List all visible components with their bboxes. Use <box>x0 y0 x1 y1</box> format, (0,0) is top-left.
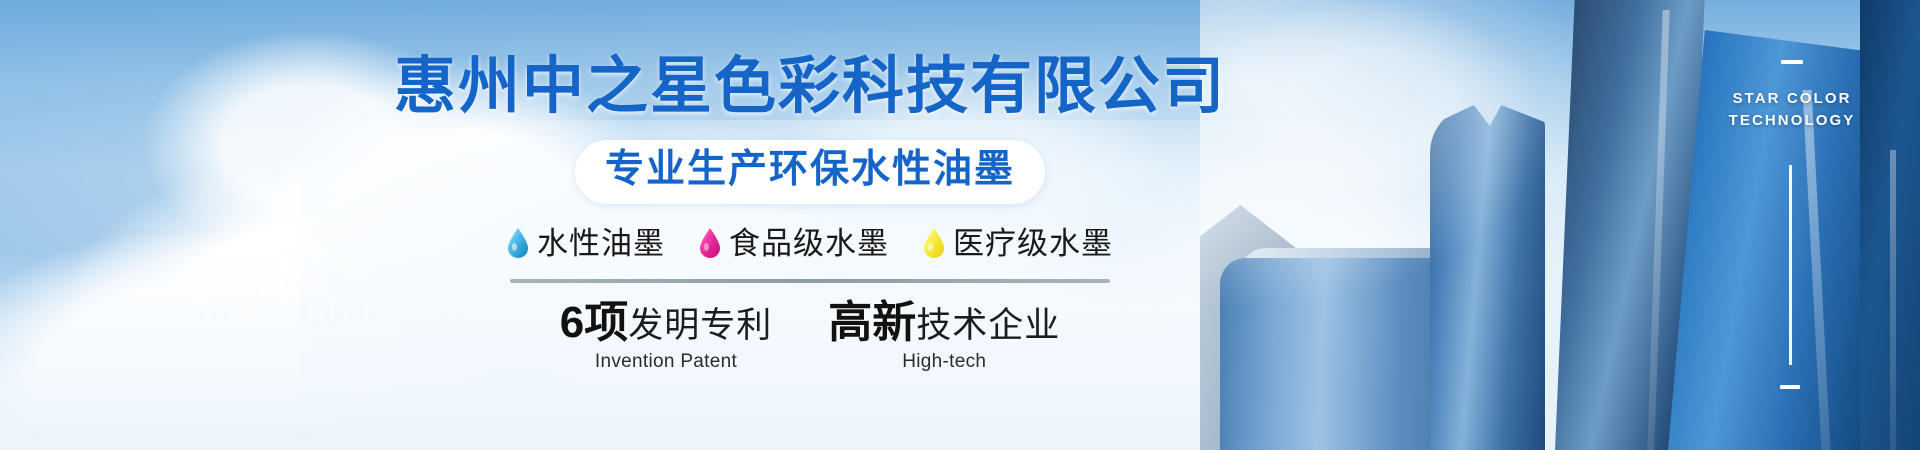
badge-english-label: High-tech <box>902 351 986 373</box>
badge-rest-text: 技术企业 <box>916 308 1060 343</box>
badge-invention-patent: 6项 发明专利 Invention Patent <box>560 301 773 373</box>
brand-vertical-rule-decor <box>1789 165 1792 365</box>
water-drop-icon <box>923 228 945 258</box>
credential-badges: 6项 发明专利 Invention Patent 高新 技术企业 High-te… <box>560 301 1061 373</box>
building-mullion-highlight <box>1890 150 1896 450</box>
badge-english-label: Invention Patent <box>595 351 737 373</box>
feature-label: 食品级水墨 <box>729 228 889 259</box>
feature-list: 水性油墨 食品级水墨 <box>507 228 1113 259</box>
brand-dash-decor-bottom <box>1780 385 1800 389</box>
brand-line-primary: STAR COLOR <box>1692 88 1892 110</box>
feature-item-medical-grade-ink: 医疗级水墨 <box>923 228 1113 259</box>
company-hero-banner: Star Color STAR COLOR TECHNOLOGY 惠州中之星色彩… <box>0 0 1920 450</box>
section-divider <box>510 279 1110 283</box>
brand-dash-decor <box>1781 60 1803 64</box>
banner-content: 惠州中之星色彩科技有限公司 专业生产环保水性油墨 水性油 <box>300 0 1320 450</box>
badge-strong-text: 6项 <box>560 301 628 345</box>
badge-high-tech: 高新 技术企业 High-tech <box>828 301 1060 373</box>
brand-mark: STAR COLOR TECHNOLOGY <box>1692 60 1892 132</box>
subtitle-pill: 专业生产环保水性油墨 <box>575 140 1045 204</box>
water-drop-icon <box>699 228 721 258</box>
feature-item-water-ink: 水性油墨 <box>507 228 665 259</box>
feature-item-food-grade-ink: 食品级水墨 <box>699 228 889 259</box>
feature-label: 水性油墨 <box>537 228 665 259</box>
badge-chinese-line: 6项 发明专利 <box>560 301 773 345</box>
feature-label: 医疗级水墨 <box>953 228 1113 259</box>
subtitle-text: 专业生产环保水性油墨 <box>605 149 1015 192</box>
brand-line-secondary: TECHNOLOGY <box>1692 110 1892 132</box>
badge-chinese-line: 高新 技术企业 <box>828 301 1060 345</box>
water-drop-icon <box>507 228 529 258</box>
company-title: 惠州中之星色彩科技有限公司 <box>394 56 1226 118</box>
badge-strong-text: 高新 <box>828 301 916 345</box>
badge-rest-text: 发明专利 <box>628 308 772 343</box>
